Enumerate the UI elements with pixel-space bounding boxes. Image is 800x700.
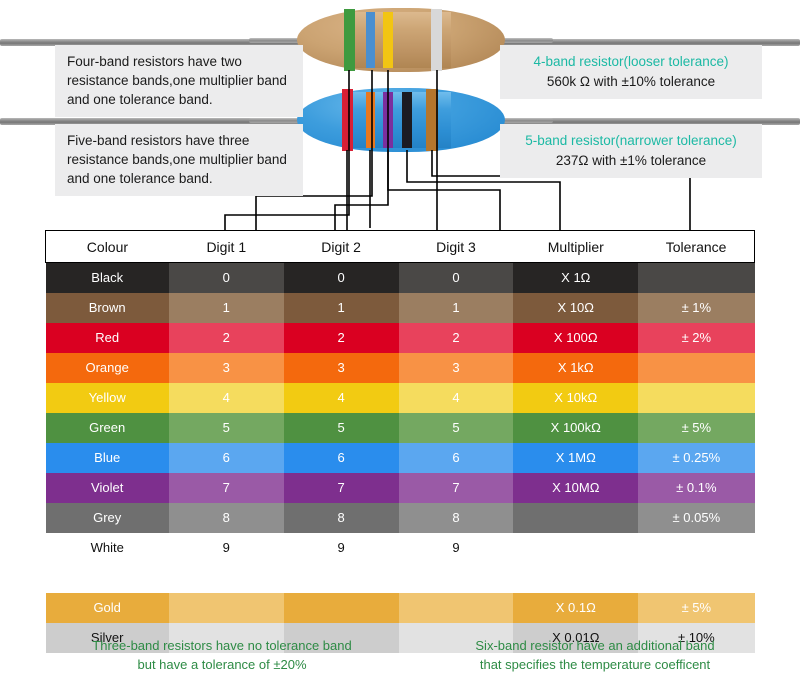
cell-multiplier [513,533,638,563]
cell-digit-3: 1 [399,293,514,323]
cell-tolerance [638,533,754,563]
table-row: Brown111X 10Ω± 1% [46,293,755,323]
cell-colour: Violet [46,473,169,503]
cell-digit-3: 8 [399,503,514,533]
three-band-footnote-line-2: but have a tolerance of ±20% [62,655,382,674]
cell-digit-3 [399,593,514,623]
cell-colour: Gold [46,593,169,623]
six-band-footnote-line-1: Six-band resistor have an additional ban… [430,636,760,655]
cell-digit-1: 0 [169,263,284,293]
cell-multiplier: X 10kΩ [513,383,638,413]
table-row: Yellow444X 10kΩ [46,383,755,413]
cell-tolerance: ± 0.1% [638,473,754,503]
three-band-footnote-line-1: Three-band resistors have no tolerance b… [62,636,382,655]
column-header-multiplier: Multiplier [513,231,638,263]
table-row: Grey888± 0.05% [46,503,755,533]
cell-tolerance: ± 5% [638,593,754,623]
cell-digit-1 [169,593,284,623]
cell-digit-3: 5 [399,413,514,443]
cell-digit-1: 4 [169,383,284,413]
leader-lines [0,0,800,240]
cell-digit-2: 7 [284,473,399,503]
cell-digit-2: 3 [284,353,399,383]
table-row: White999 [46,533,755,563]
five-band-description-text: Five-band resistors have three resistanc… [67,133,287,186]
cell-digit-3: 9 [399,533,514,563]
cell-multiplier: X 1MΩ [513,443,638,473]
three-band-footnote: Three-band resistors have no tolerance b… [62,636,382,674]
cell-digit-3: 0 [399,263,514,293]
cell-colour: Brown [46,293,169,323]
cell-digit-2 [284,593,399,623]
cell-digit-1: 1 [169,293,284,323]
column-header-digit-1: Digit 1 [169,231,284,263]
cell-multiplier: X 100Ω [513,323,638,353]
cell-digit-2: 6 [284,443,399,473]
resistor-colour-code-table: Colour Digit 1 Digit 2 Digit 3 Multiplie… [45,230,755,653]
cell-digit-3: 3 [399,353,514,383]
cell-digit-3: 4 [399,383,514,413]
cell-colour: Yellow [46,383,169,413]
cell-digit-1: 7 [169,473,284,503]
cell-tolerance: ± 2% [638,323,754,353]
cell-digit-2: 2 [284,323,399,353]
cell-tolerance [638,383,754,413]
five-band-description-box: Five-band resistors have three resistanc… [55,124,303,196]
cell-digit-2: 8 [284,503,399,533]
six-band-footnote: Six-band resistor have an additional ban… [430,636,760,674]
cell-multiplier: X 10MΩ [513,473,638,503]
table-row: Black000X 1Ω [46,263,755,293]
cell-colour: Orange [46,353,169,383]
cell-digit-1: 2 [169,323,284,353]
cell-digit-3: 6 [399,443,514,473]
table-row: GoldX 0.1Ω± 5% [46,593,755,623]
column-header-tolerance: Tolerance [638,231,754,263]
column-header-colour: Colour [46,231,169,263]
cell-multiplier [513,503,638,533]
cell-multiplier: X 1kΩ [513,353,638,383]
four-band-description-text: Four-band resistors have two resistance … [67,54,287,107]
resistor-colour-code-infographic: Four-band resistors have two resistance … [0,0,800,700]
four-band-description-box: Four-band resistors have two resistance … [55,45,303,117]
cell-tolerance: ± 0.25% [638,443,754,473]
table-row: Red222X 100Ω± 2% [46,323,755,353]
cell-colour: Black [46,263,169,293]
column-header-digit-3: Digit 3 [399,231,514,263]
cell-digit-2: 4 [284,383,399,413]
cell-digit-3: 2 [399,323,514,353]
cell-digit-1: 6 [169,443,284,473]
cell-tolerance: ± 1% [638,293,754,323]
table-header-row: Colour Digit 1 Digit 2 Digit 3 Multiplie… [46,231,755,263]
cell-tolerance [638,263,754,293]
table-row: Orange333X 1kΩ [46,353,755,383]
cell-digit-1: 5 [169,413,284,443]
cell-multiplier: X 0.1Ω [513,593,638,623]
cell-digit-1: 8 [169,503,284,533]
cell-colour: Grey [46,503,169,533]
cell-tolerance [638,353,754,383]
table-row: Blue666X 1MΩ± 0.25% [46,443,755,473]
four-band-example-title: 4-band resistor(looser tolerance) [512,52,750,71]
cell-digit-3: 7 [399,473,514,503]
five-band-example-title: 5-band resistor(narrower tolerance) [512,131,750,150]
cell-tolerance: ± 5% [638,413,754,443]
cell-multiplier: X 1Ω [513,263,638,293]
cell-digit-2: 0 [284,263,399,293]
cell-digit-1: 9 [169,533,284,563]
cell-digit-2: 1 [284,293,399,323]
cell-colour: Green [46,413,169,443]
cell-colour: Blue [46,443,169,473]
column-header-digit-2: Digit 2 [284,231,399,263]
cell-multiplier: X 100kΩ [513,413,638,443]
four-band-example-box: 4-band resistor(looser tolerance) 560k Ω… [500,45,762,99]
cell-digit-2: 9 [284,533,399,563]
cell-multiplier: X 10Ω [513,293,638,323]
table-row-spacer [46,563,755,593]
six-band-footnote-line-2: that specifies the temperature coefficen… [430,655,760,674]
table-row: Violet777X 10MΩ± 0.1% [46,473,755,503]
cell-digit-1: 3 [169,353,284,383]
cell-digit-2: 5 [284,413,399,443]
table-body: Black000X 1ΩBrown111X 10Ω± 1%Red222X 100… [46,263,755,653]
table-row: Green555X 100kΩ± 5% [46,413,755,443]
cell-colour: White [46,533,169,563]
five-band-example-box: 5-band resistor(narrower tolerance) 237Ω… [500,124,762,178]
cell-tolerance: ± 0.05% [638,503,754,533]
four-band-example-value: 560k Ω with ±10% tolerance [547,74,715,89]
cell-colour: Red [46,323,169,353]
five-band-example-value: 237Ω with ±1% tolerance [556,153,706,168]
